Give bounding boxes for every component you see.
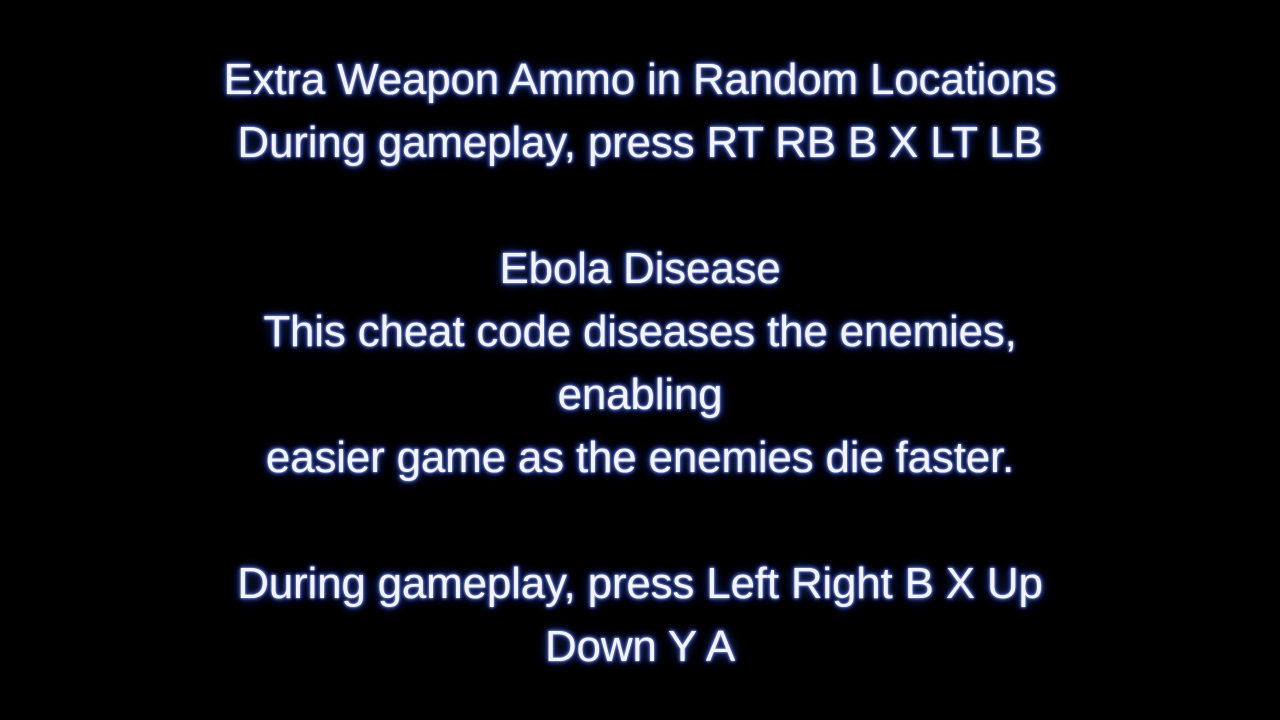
cheat-line-extra-weapon-ammo-input: During gameplay, press RT RB B X LT LB: [0, 111, 1280, 174]
cheat-line-ebola-disease-input-2: Down Y A: [0, 615, 1280, 678]
cheat-line-ebola-disease-input-1: During gameplay, press Left Right B X Up: [0, 552, 1280, 615]
cheat-line-ebola-disease-description-1: This cheat code diseases the enemies,: [0, 300, 1280, 363]
cheat-line-spacer-2: [0, 489, 1280, 552]
cheat-line-spacer-1: [0, 174, 1280, 237]
cheat-line-extra-weapon-ammo-title: Extra Weapon Ammo in Random Locations: [0, 48, 1280, 111]
cheat-line-ebola-disease-description-3: easier game as the enemies die faster.: [0, 426, 1280, 489]
cheat-code-text-block: Extra Weapon Ammo in Random Locations Du…: [0, 48, 1280, 678]
cheat-line-ebola-disease-description-2: enabling: [0, 363, 1280, 426]
cheat-line-ebola-disease-title: Ebola Disease: [0, 237, 1280, 300]
cheat-code-video-frame: Extra Weapon Ammo in Random Locations Du…: [0, 0, 1280, 720]
